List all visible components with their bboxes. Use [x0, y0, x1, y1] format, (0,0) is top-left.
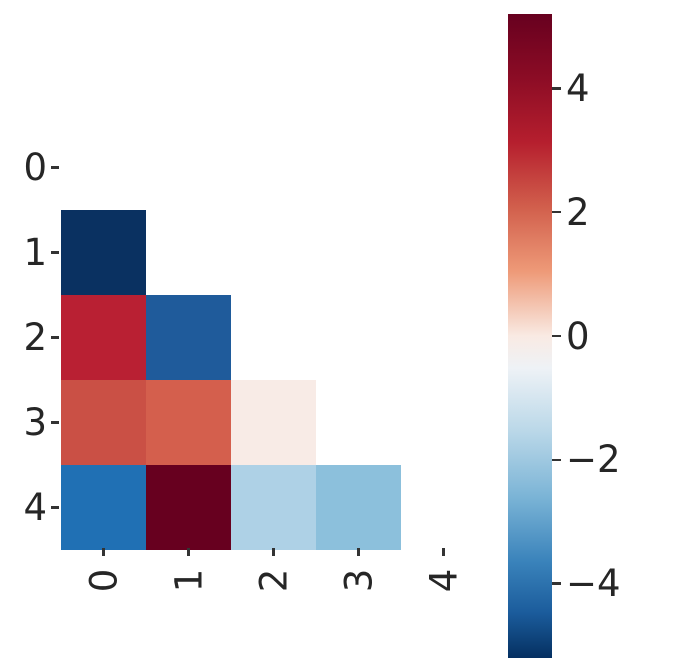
x-tick-mark — [187, 548, 190, 556]
x-tick-mark — [357, 548, 360, 556]
heatmap-cell — [231, 380, 316, 465]
heatmap-cell — [146, 295, 231, 380]
x-tick-label: 2 — [255, 569, 292, 593]
colorbar-tick-label: 4 — [566, 70, 590, 107]
y-tick-4: 4 — [0, 465, 61, 550]
colorbar-tick-label: −2 — [566, 441, 621, 478]
y-tick-label: 4 — [23, 489, 51, 526]
x-tick-mark — [442, 548, 445, 556]
colorbar-tick-mark — [552, 459, 561, 462]
heatmap-cell — [231, 465, 316, 550]
heatmap-cell — [146, 465, 231, 550]
colorbar-tick-label: 0 — [566, 318, 590, 355]
y-tick-label: 2 — [23, 319, 51, 356]
x-tick-label: 0 — [85, 569, 122, 593]
heatmap-cell — [61, 380, 146, 465]
colorbar-tick-mark — [552, 87, 561, 90]
heatmap-cell — [316, 465, 401, 550]
x-tick-label: 4 — [425, 569, 462, 593]
y-tick-label: 1 — [23, 234, 51, 271]
x-tick-0: 0 — [61, 548, 146, 599]
colorbar-tick-label: 2 — [566, 194, 590, 231]
heatmap-cell — [61, 465, 146, 550]
y-tick-2: 2 — [0, 295, 61, 380]
x-tick-label: 3 — [340, 569, 377, 593]
colorbar-gradient — [508, 14, 552, 658]
x-tick-2: 2 — [231, 548, 316, 599]
colorbar-tick-mark — [552, 211, 561, 214]
colorbar — [508, 14, 552, 658]
heatmap-figure: 01234 01234 420−2−4 Adjacency score — [0, 0, 683, 672]
y-tick-mark — [51, 506, 59, 509]
y-tick-3: 3 — [0, 380, 61, 465]
x-tick-mark — [102, 548, 105, 556]
heatmap-cell — [61, 210, 146, 295]
heatmap-cell — [61, 295, 146, 380]
colorbar-tick-mark — [552, 335, 561, 338]
y-tick-mark — [51, 421, 59, 424]
y-tick-label: 3 — [23, 404, 51, 441]
x-tick-3: 3 — [316, 548, 401, 599]
colorbar-tick-mark — [552, 582, 561, 585]
y-tick-label: 0 — [23, 149, 51, 186]
y-tick-mark — [51, 251, 59, 254]
y-tick-0: 0 — [0, 125, 61, 210]
x-tick-1: 1 — [146, 548, 231, 599]
colorbar-label: Adjacency score — [612, 0, 672, 60]
x-tick-mark — [272, 548, 275, 556]
x-tick-label: 1 — [170, 569, 207, 593]
y-tick-mark — [51, 166, 59, 169]
y-tick-mark — [51, 336, 59, 339]
y-tick-1: 1 — [0, 210, 61, 295]
heatmap-cell — [146, 380, 231, 465]
heatmap-plot-area — [61, 125, 401, 548]
colorbar-tick-label: −4 — [566, 565, 621, 602]
x-tick-4: 4 — [401, 548, 486, 599]
